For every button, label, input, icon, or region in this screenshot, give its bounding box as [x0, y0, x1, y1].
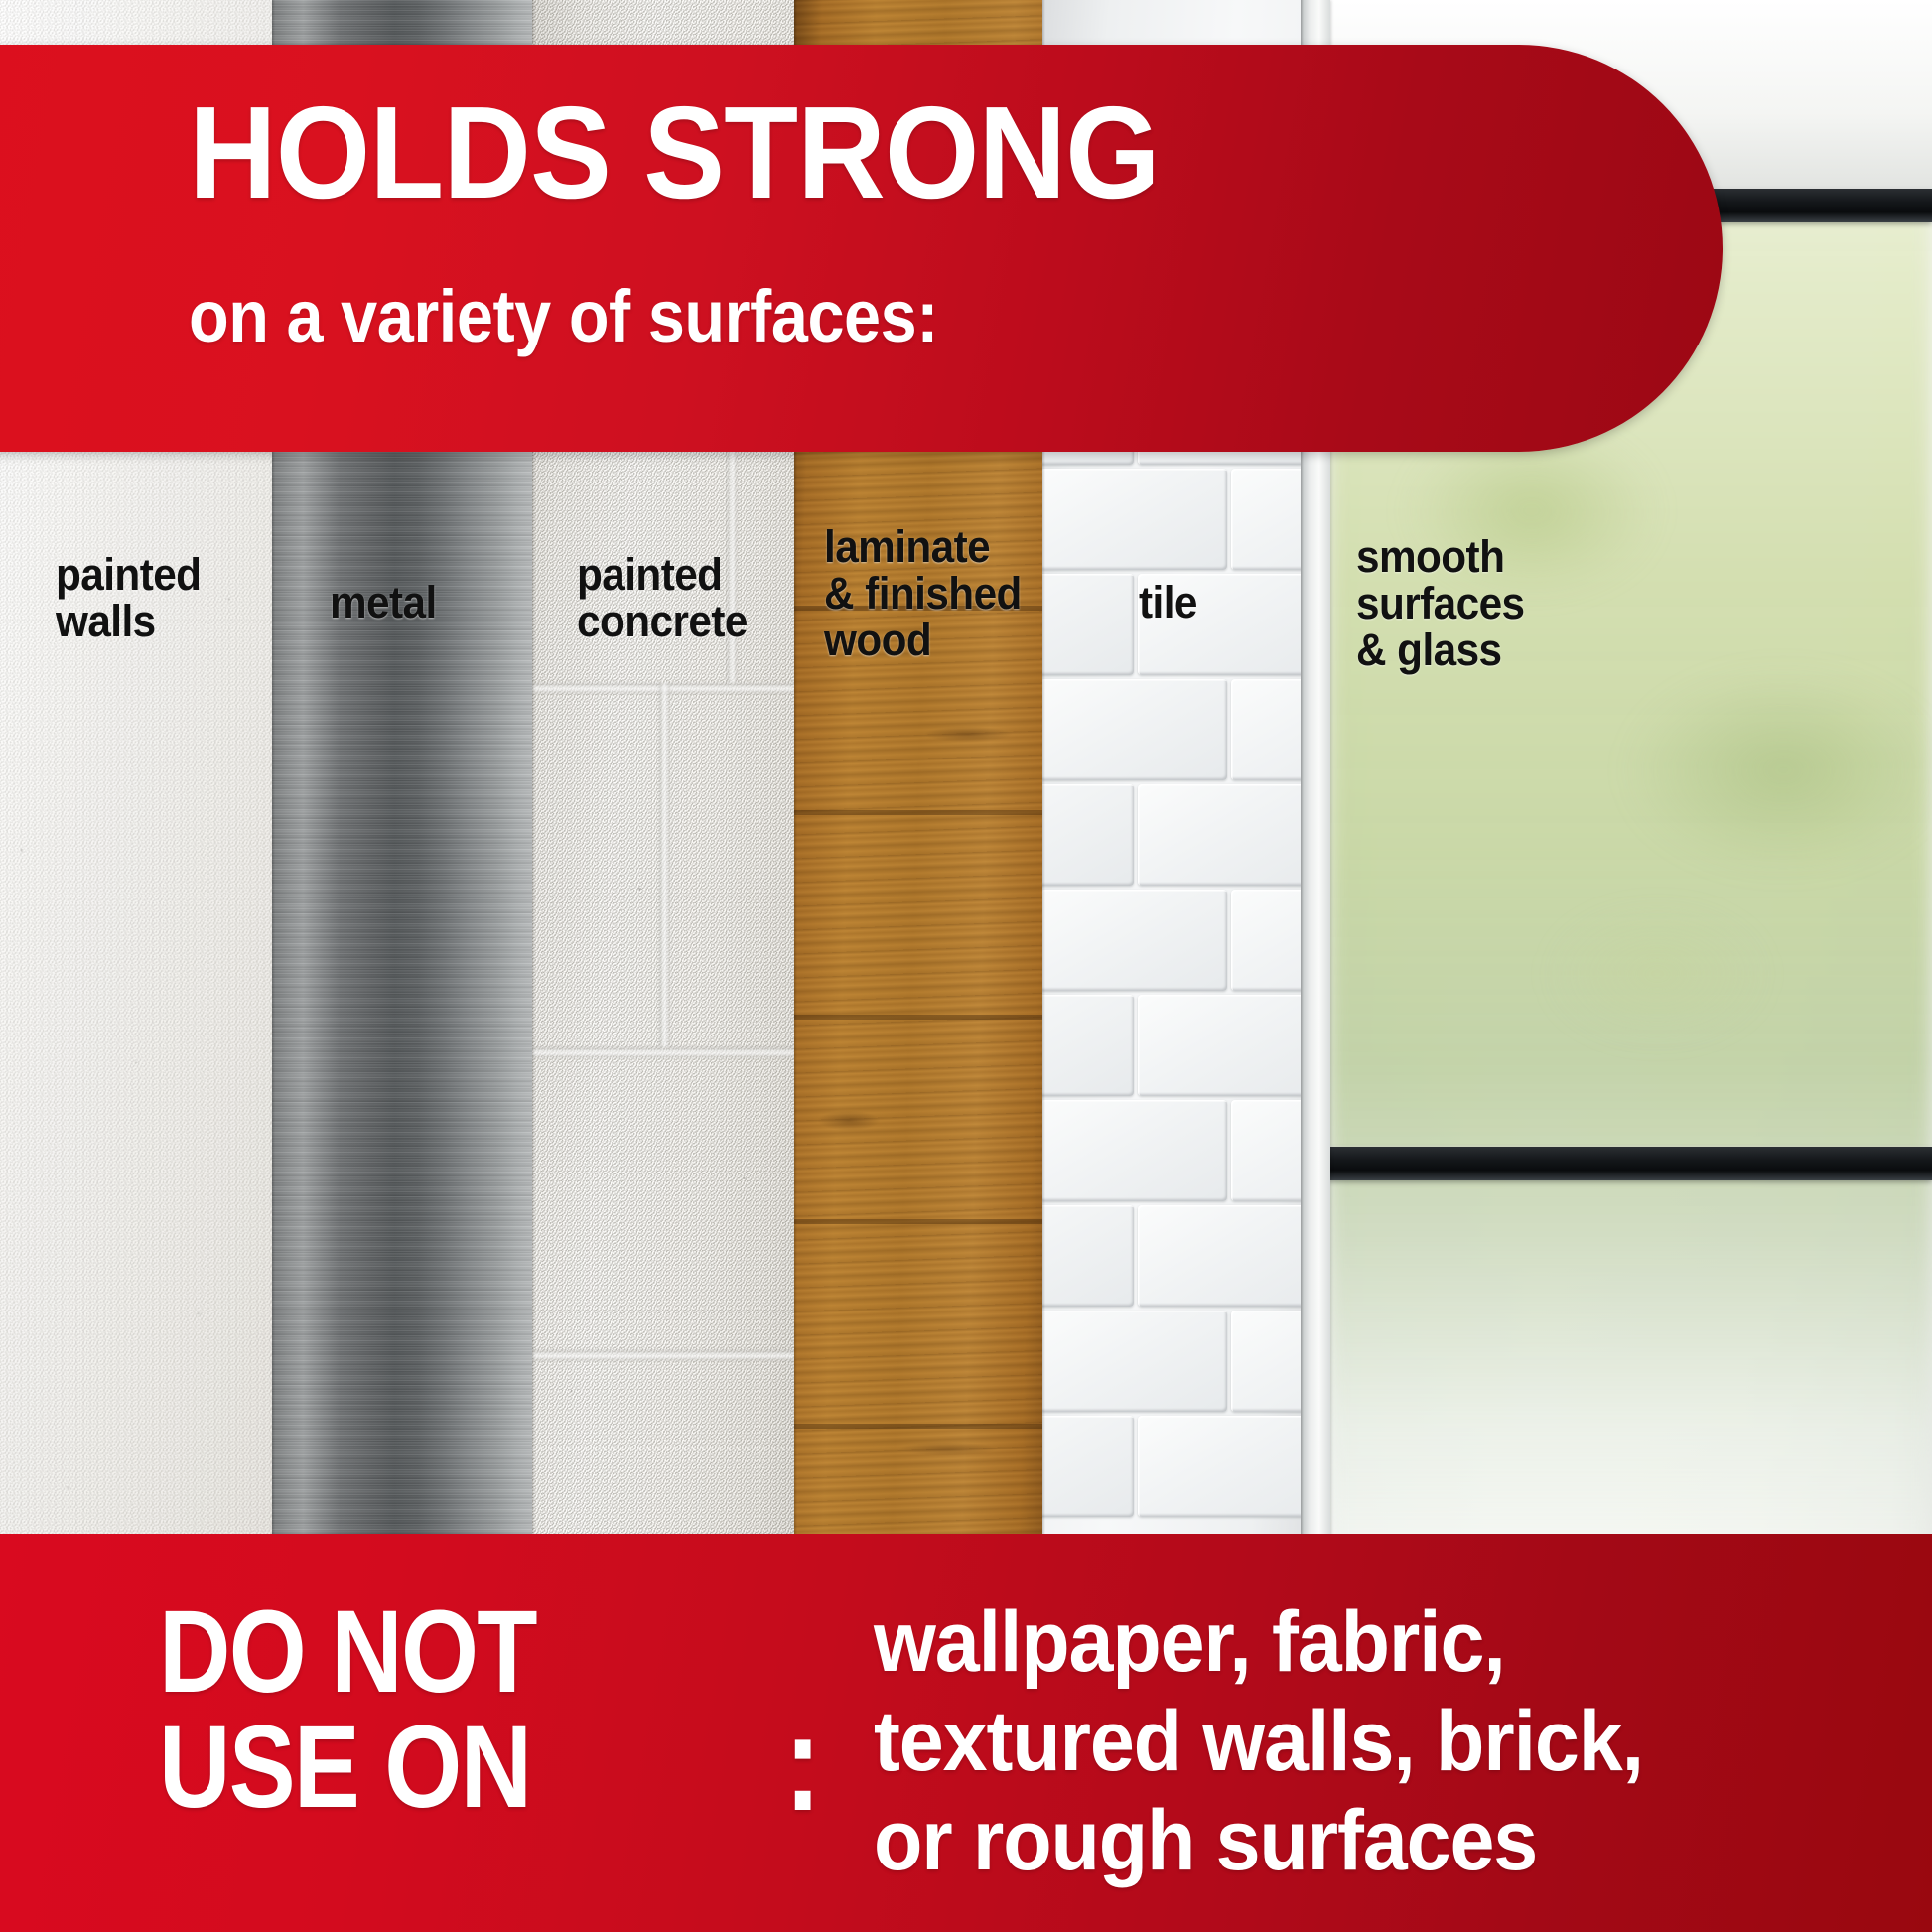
- surface-label-glass: smooth surfaces & glass: [1356, 534, 1525, 673]
- do-not-use-heading: DO NOT USE ON: [159, 1595, 536, 1825]
- do-not-use-banner: DO NOT USE ON : wallpaper, fabric, textu…: [0, 1534, 1932, 1932]
- surface-label-painted-concrete: painted concrete: [577, 552, 748, 645]
- surface-label-metal: metal: [330, 580, 437, 626]
- surface-label-painted-walls: painted walls: [56, 552, 201, 645]
- do-not-use-colon: :: [784, 1693, 821, 1832]
- do-not-use-list: wallpaper, fabric, textured walls, brick…: [874, 1593, 1643, 1890]
- page-subtitle: on a variety of surfaces:: [189, 280, 938, 353]
- infographic-canvas: HOLDS STRONG on a variety of surfaces: p…: [0, 0, 1932, 1932]
- surface-label-tile: tile: [1139, 580, 1197, 626]
- surface-label-laminate-wood: laminate & finished wood: [824, 524, 1022, 663]
- page-title: HOLDS STRONG: [189, 87, 1160, 218]
